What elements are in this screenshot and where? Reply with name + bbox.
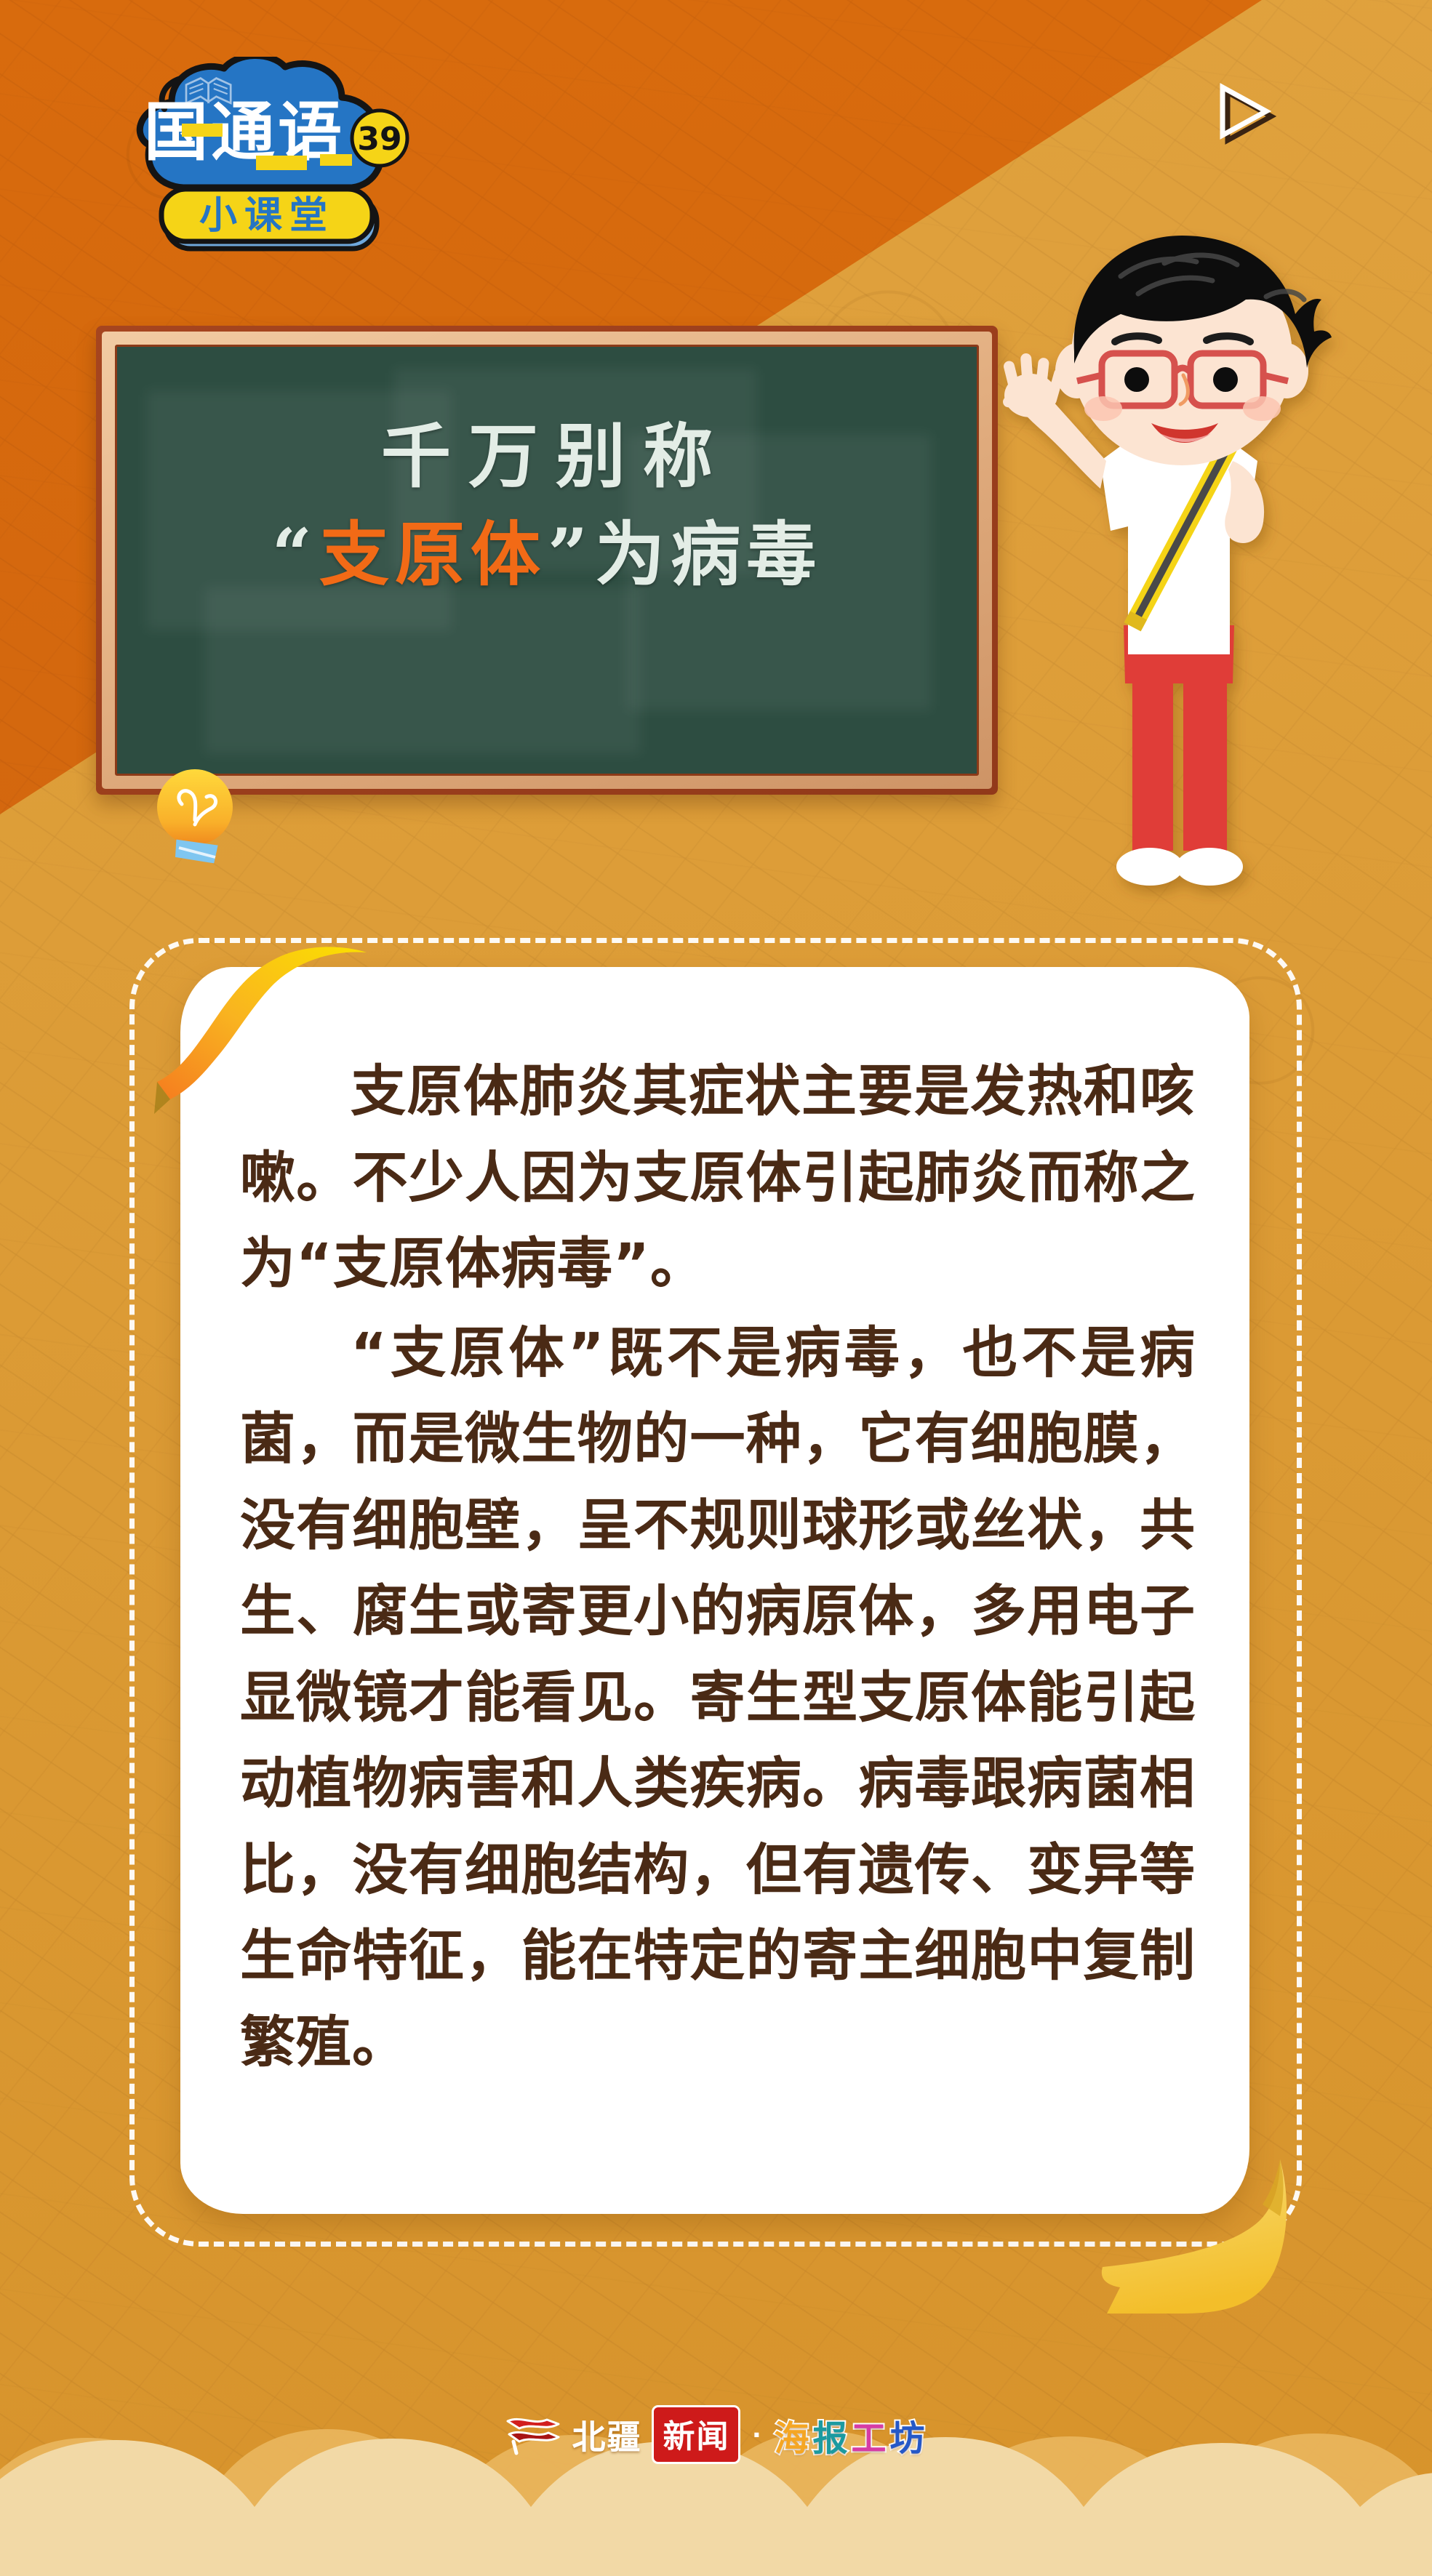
boy-shoe-left (1116, 848, 1183, 886)
logo-subtitle-pill: 小课堂 (161, 189, 377, 249)
boy-shoe-right (1176, 848, 1243, 886)
blackboard-line-2: “ 支原体 ” 为病毒 (117, 513, 977, 596)
footer-separator: · (752, 2417, 762, 2452)
card-body-text: 支原体肺炎其症状主要是发热和咳嗽。不少人因为支原体引起肺炎而称之为“支原体病毒”… (240, 1048, 1196, 2086)
quote-open: “ (272, 513, 318, 596)
footer-studio-name: 海 报 工 坊 (774, 2410, 927, 2460)
blackboard-text: 千万别称 “ 支原体 ” 为病毒 (117, 417, 977, 597)
blackboard-line-1: 千万别称 (117, 417, 977, 497)
boy-eye-left (1124, 367, 1149, 392)
studio-char-1: 海 (774, 2410, 811, 2460)
studio-char-2: 报 (812, 2410, 849, 2460)
quote-close: ” (548, 513, 593, 596)
blackboard-line-2-rest: 为病毒 (595, 513, 822, 596)
episode-badge-number: 39 (357, 121, 401, 158)
footer-brand-name: 北疆 (572, 2411, 641, 2459)
boy-mascot (978, 218, 1364, 931)
blackboard: 千万别称 “ 支原体 ” 为病毒 (96, 326, 998, 795)
logo-subtitle: 小课堂 (199, 193, 335, 238)
blackboard-highlight: 支原体 (319, 513, 546, 596)
logo-accent-1 (182, 124, 223, 137)
ribbon-bottom-right (1040, 2152, 1309, 2319)
logo-accent-2 (256, 156, 307, 170)
footer-news-tag: 新闻 (652, 2405, 740, 2464)
logo-badge: 国通语 39 小课堂 (102, 57, 422, 253)
logo-title: 国通语 (144, 95, 345, 169)
boy-head (1055, 236, 1332, 465)
ribbon-top-left (148, 947, 367, 1128)
boy-arm-right (1225, 461, 1264, 543)
poster-root: 国通语 39 小课堂 千万别称 (0, 0, 1432, 2576)
studio-char-4: 坊 (890, 2410, 927, 2460)
content-card: 支原体肺炎其症状主要是发热和咳嗽。不少人因为支原体引起肺炎而称之为“支原体病毒”… (180, 967, 1249, 2214)
card-paragraph-1: 支原体肺炎其症状主要是发热和咳嗽。不少人因为支原体引起肺炎而称之为“支原体病毒”… (240, 1048, 1196, 1307)
play-triangle-icon (1209, 73, 1276, 145)
card-paragraph-2: “支原体”既不是病毒，也不是病菌，而是微生物的一种，它有细胞膜，没有细胞壁，呈不… (240, 1310, 1196, 2086)
boy-leg-left (1132, 654, 1173, 851)
footer-brand-bar: 北疆 新闻 · 海 报 工 坊 (0, 2405, 1432, 2464)
studio-char-3: 工 (852, 2410, 889, 2460)
boy-leg-right (1183, 654, 1227, 851)
red-flag-icon (505, 2414, 561, 2456)
lightbulb-icon (153, 762, 240, 871)
blackboard-face: 千万别称 “ 支原体 ” 为病毒 (115, 345, 979, 776)
boy-eye-right (1213, 367, 1238, 392)
logo-accent-3 (320, 154, 352, 166)
